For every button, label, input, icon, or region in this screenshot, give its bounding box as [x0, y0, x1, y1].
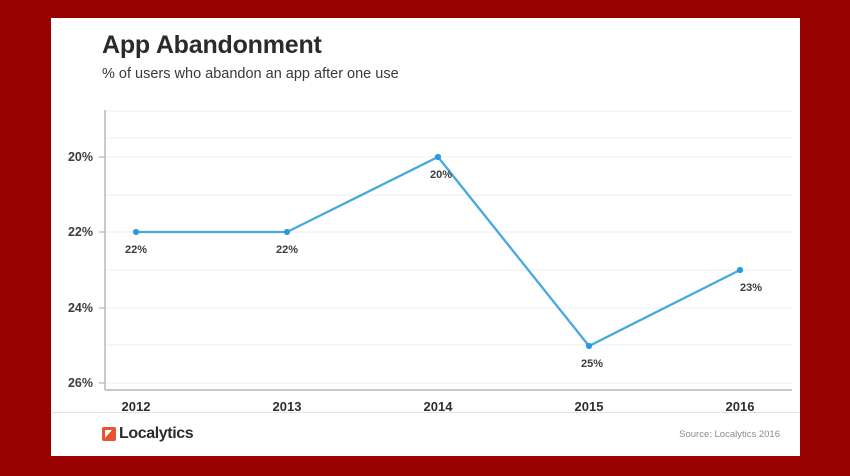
data-point-markers — [133, 154, 743, 349]
source-attribution: Source: Localytics 2016 — [679, 429, 780, 440]
localytics-logo[interactable]: Localytics — [102, 425, 193, 443]
y-axis-tick-labels: 20% 22% 24% 26% — [68, 150, 93, 390]
y-tick-label: 26% — [68, 376, 93, 390]
y-tick-label: 20% — [68, 150, 93, 164]
data-point[interactable] — [435, 154, 441, 160]
y-axis-ticks — [99, 157, 105, 383]
data-point-label: 22% — [276, 244, 298, 256]
localytics-logo-mark-icon — [102, 427, 116, 441]
data-point-label: 23% — [740, 282, 762, 294]
data-point[interactable] — [586, 343, 592, 349]
y-tick-label: 24% — [68, 301, 93, 315]
series-line — [136, 157, 740, 346]
line-chart: 20% 22% 24% 26% 22% 22% — [51, 18, 800, 456]
red-frame: App Abandonment % of users who abandon a… — [0, 0, 850, 476]
chart-svg: 20% 22% 24% 26% 22% 22% — [51, 18, 800, 456]
data-point-label: 20% — [430, 169, 452, 181]
chart-card: App Abandonment % of users who abandon a… — [51, 18, 800, 456]
data-point-label: 22% — [125, 244, 147, 256]
gridlines — [105, 111, 792, 383]
y-tick-label: 22% — [68, 225, 93, 239]
data-point[interactable] — [284, 229, 290, 235]
chart-footer: Localytics Source: Localytics 2016 — [51, 412, 800, 456]
data-point[interactable] — [133, 229, 139, 235]
data-point[interactable] — [737, 267, 743, 273]
data-point-label: 25% — [581, 358, 603, 370]
localytics-logo-text: Localytics — [119, 425, 193, 443]
